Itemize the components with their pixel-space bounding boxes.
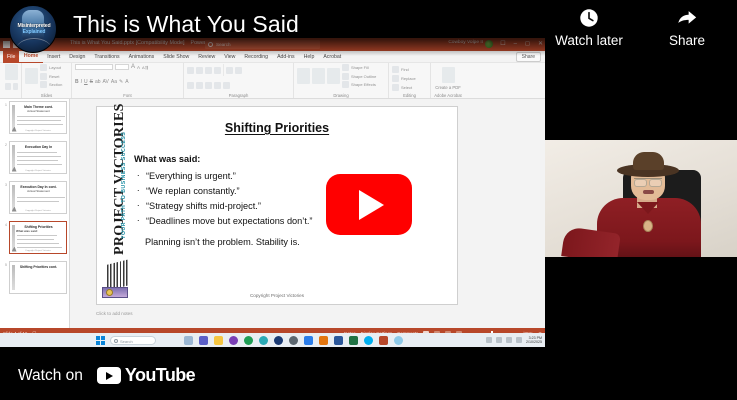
show-hidden-icons-icon[interactable] — [486, 337, 492, 343]
ribbon-group-label — [5, 93, 18, 99]
play-triangle-icon — [359, 190, 384, 220]
align-left-icon[interactable] — [187, 82, 194, 89]
thumbnail-title: Shifting Priorities cont. — [14, 265, 63, 269]
video-title[interactable]: This is What You Said — [73, 11, 299, 38]
channel-avatar[interactable]: Misinterpreted Explained — [9, 5, 57, 53]
powerpoint-icon[interactable] — [379, 336, 388, 345]
quick-styles-icon[interactable] — [327, 68, 340, 84]
shape-fill-label: Shape Fill — [351, 65, 369, 70]
font-family-input[interactable] — [75, 64, 113, 70]
character-spacing-icon[interactable]: AV — [103, 79, 109, 85]
app-icon-purple[interactable] — [229, 336, 238, 345]
italic-icon[interactable]: I — [81, 79, 82, 85]
ribbon-group-adobe-acrobat[interactable]: Create a PDF Adobe Acrobat — [431, 63, 465, 98]
avatar-line2: Explained — [14, 29, 54, 35]
paragraph-group-label: Paragraph — [187, 93, 290, 99]
paste-icon[interactable] — [5, 64, 18, 80]
clear-formatting-icon[interactable]: A⇶ — [142, 65, 148, 70]
ribbon-group-editing[interactable]: Find Replace Select Editing — [389, 63, 431, 98]
ribbon-group-drawing[interactable]: Shape Fill Shape Outline Shape Effects D… — [294, 63, 389, 98]
windows-taskbar[interactable]: Search — [0, 333, 545, 347]
shadow-icon[interactable]: ab — [95, 79, 101, 85]
logo-sub-text: YOUR PATH TO BUSINESS SUCCESS — [121, 129, 127, 239]
slide-copyright: Copyright Project Victories — [97, 293, 457, 298]
thumbnail-subtitle: What was said: — [16, 230, 63, 234]
section-label: Section — [49, 82, 62, 87]
decrease-indent-icon[interactable] — [205, 67, 212, 74]
thumbnail-title: Main Theme cont. — [14, 105, 63, 109]
shape-effects-label: Shape Effects — [351, 82, 376, 87]
shape-effects-icon[interactable] — [342, 81, 349, 88]
decrease-font-size-icon[interactable]: A — [137, 65, 140, 70]
widgets-icon[interactable] — [184, 336, 193, 345]
new-slide-icon[interactable] — [25, 68, 38, 84]
increase-indent-icon[interactable] — [214, 67, 221, 74]
font-color-icon[interactable]: A — [125, 79, 128, 85]
layout-icon[interactable] — [40, 64, 47, 71]
slide-thumbnail-selected[interactable]: 4 Shifting Priorities What was said: Cop… — [9, 221, 67, 254]
play-button[interactable] — [326, 174, 412, 235]
arrange-icon[interactable] — [312, 68, 325, 84]
slide-number: 2 — [5, 143, 7, 147]
powerpoint-work-area: 1 Main Theme cont. Actual Statement Copy… — [0, 99, 545, 347]
ribbon-group-slides[interactable]: Layout Reset Section Slides — [22, 63, 72, 98]
video-player-screenshot: This is What You Said.pptx [Compatibilit… — [0, 0, 737, 400]
slide-lead-text: What was said: — [134, 154, 200, 164]
thumbnail-copyright: Copyright Project Victories — [10, 210, 66, 212]
taskbar-pinned-apps[interactable] — [184, 336, 403, 345]
shared-screen-powerpoint: This is What You Said.pptx [Compatibilit… — [0, 38, 545, 347]
editing-group-label: Editing — [392, 93, 427, 99]
shape-fill-icon[interactable] — [342, 64, 349, 71]
presenter-webcam — [545, 140, 737, 257]
clock-date: 2/10/2025 — [526, 340, 542, 344]
columns-icon[interactable] — [223, 82, 230, 89]
app-icon-darkblue[interactable] — [274, 336, 283, 345]
youtube-wordmark: YouTube — [97, 365, 195, 386]
youtube-wordmark-label: YouTube — [125, 365, 195, 386]
system-tray[interactable]: 3:23 PM 2/10/2025 — [486, 336, 545, 344]
numbering-icon[interactable] — [196, 67, 203, 74]
select-icon[interactable] — [392, 84, 399, 91]
youtube-top-bar: Misinterpreted Explained This is What Yo… — [0, 0, 737, 56]
watch-on-label: Watch on — [18, 367, 83, 385]
letterbox-bottom-right — [545, 257, 737, 400]
slide-closing-text: Planning isn’t the problem. Stability is… — [145, 237, 300, 247]
logo-mark-icon — [102, 258, 130, 298]
align-right-icon[interactable] — [205, 82, 212, 89]
shape-outline-icon[interactable] — [342, 73, 349, 80]
line-spacing-icon[interactable] — [226, 67, 233, 74]
slide-thumbnail[interactable]: 1 Main Theme cont. Actual Statement Copy… — [9, 101, 67, 134]
bullets-icon[interactable] — [187, 67, 194, 74]
align-center-icon[interactable] — [196, 82, 203, 89]
glasses-icon — [634, 178, 662, 184]
replace-label: Replace — [401, 76, 416, 81]
strikethrough-icon[interactable]: S — [90, 79, 93, 85]
watch-later-label: Watch later — [555, 33, 623, 48]
app-icon-grey[interactable] — [289, 336, 298, 345]
slide-thumbnail[interactable]: 5 Shifting Priorities cont. — [9, 261, 67, 294]
slide-number: 3 — [5, 183, 7, 187]
excel-icon[interactable] — [349, 336, 358, 345]
browser-icon[interactable] — [394, 336, 403, 345]
volume-icon[interactable] — [506, 337, 512, 343]
justify-icon[interactable] — [214, 82, 221, 89]
text-direction-icon[interactable] — [235, 67, 242, 74]
clock-icon — [578, 5, 600, 31]
ribbon-group-font[interactable]: A A A⇶ B I U S ab AV Aa ✎ A Font — [72, 63, 184, 98]
ribbon-body[interactable]: Layout Reset Section Slides A A A⇶ B — [0, 63, 545, 99]
thumbnail-title: Shifting Priorities — [14, 225, 63, 229]
slide-number: 4 — [5, 223, 7, 227]
create-pdf-icon[interactable] — [442, 67, 455, 83]
network-icon[interactable] — [496, 337, 502, 343]
section-icon[interactable] — [40, 81, 47, 88]
bolo-tie-icon — [643, 220, 653, 232]
slide-number: 5 — [5, 263, 7, 267]
thumbnail-copyright: Copyright Project Victories — [10, 250, 66, 252]
cut-icon[interactable] — [5, 83, 11, 90]
word-icon[interactable] — [334, 336, 343, 345]
ribbon-group-paragraph[interactable]: Paragraph — [184, 63, 294, 98]
ribbon-group-clipboard[interactable] — [2, 63, 22, 98]
thumbnail-subtitle: Actual Statement — [14, 110, 63, 114]
app-icon-orange[interactable] — [319, 336, 328, 345]
app-icon-blue[interactable] — [304, 336, 313, 345]
reset-icon[interactable] — [40, 73, 47, 80]
select-label: Select — [401, 85, 412, 90]
font-size-input[interactable] — [115, 64, 129, 70]
bold-icon[interactable]: B — [75, 79, 79, 85]
watch-on-youtube-button[interactable]: Watch on YouTube — [18, 365, 195, 386]
watch-later-button[interactable]: Watch later — [542, 5, 636, 48]
share-button[interactable]: Share — [650, 5, 724, 48]
taskbar-search-placeholder: Search — [120, 339, 133, 344]
copy-icon[interactable] — [13, 83, 19, 90]
reset-label: Reset — [49, 74, 59, 79]
find-label: Find — [401, 67, 409, 72]
find-icon[interactable] — [392, 66, 399, 73]
search-icon — [114, 339, 118, 343]
layout-label: Layout — [49, 65, 61, 70]
acrobat-group-label: Adobe Acrobat — [434, 93, 462, 99]
taskbar-search-input[interactable]: Search — [110, 336, 156, 345]
thumbnail-copyright: Copyright Project Victories — [10, 170, 66, 172]
drawing-group-label: Drawing — [297, 93, 385, 99]
battery-icon[interactable] — [516, 337, 522, 343]
app-icon-green[interactable] — [244, 336, 253, 345]
text-highlight-color-icon[interactable]: ✎ — [119, 79, 123, 85]
start-button-icon[interactable] — [96, 336, 105, 345]
thumbnail-copyright: Copyright Project Victories — [10, 130, 66, 132]
slide-thumbnail[interactable]: 2 Execution Day In Copyright Project Vic… — [9, 141, 67, 174]
thumbnail-title: Execution Day In cont. — [14, 185, 63, 189]
teams-icon[interactable] — [199, 336, 208, 345]
thumbnail-title: Execution Day In — [14, 145, 63, 149]
project-victories-logo: PROJECT VICTORIES YOUR PATH TO BUSINESS … — [99, 109, 133, 304]
notes-placeholder[interactable]: Click to add notes — [96, 311, 458, 316]
slide-thumbnail-pane[interactable]: 1 Main Theme cont. Actual Statement Copy… — [0, 99, 70, 347]
thumbnail-subtitle: Actual Statement — [14, 190, 63, 194]
slide-canvas-area: PROJECT VICTORIES YOUR PATH TO BUSINESS … — [70, 99, 545, 347]
skype-icon[interactable] — [364, 336, 373, 345]
share-arrow-icon — [675, 5, 699, 31]
file-explorer-icon[interactable] — [214, 336, 223, 345]
slide-thumbnail[interactable]: 3 Execution Day In cont. Actual Statemen… — [9, 181, 67, 214]
increase-font-size-icon[interactable]: A — [131, 64, 135, 70]
youtube-logo-icon — [97, 367, 121, 384]
change-case-icon[interactable]: Aa — [111, 79, 117, 85]
share-label: Share — [669, 33, 705, 48]
slides-group-label: Slides — [25, 93, 68, 99]
slide-title: Shifting Priorities — [97, 121, 457, 135]
app-icon-teal[interactable] — [259, 336, 268, 345]
create-pdf-label: Create a PDF — [434, 85, 462, 91]
replace-icon[interactable] — [392, 75, 399, 82]
slide-number: 1 — [5, 103, 7, 107]
shapes-gallery-icon[interactable] — [297, 68, 310, 84]
taskbar-clock[interactable]: 3:23 PM 2/10/2025 — [526, 336, 542, 344]
underline-icon[interactable]: U — [84, 79, 88, 85]
shape-outline-label: Shape Outline — [351, 74, 376, 79]
font-group-label: Font — [75, 93, 180, 99]
